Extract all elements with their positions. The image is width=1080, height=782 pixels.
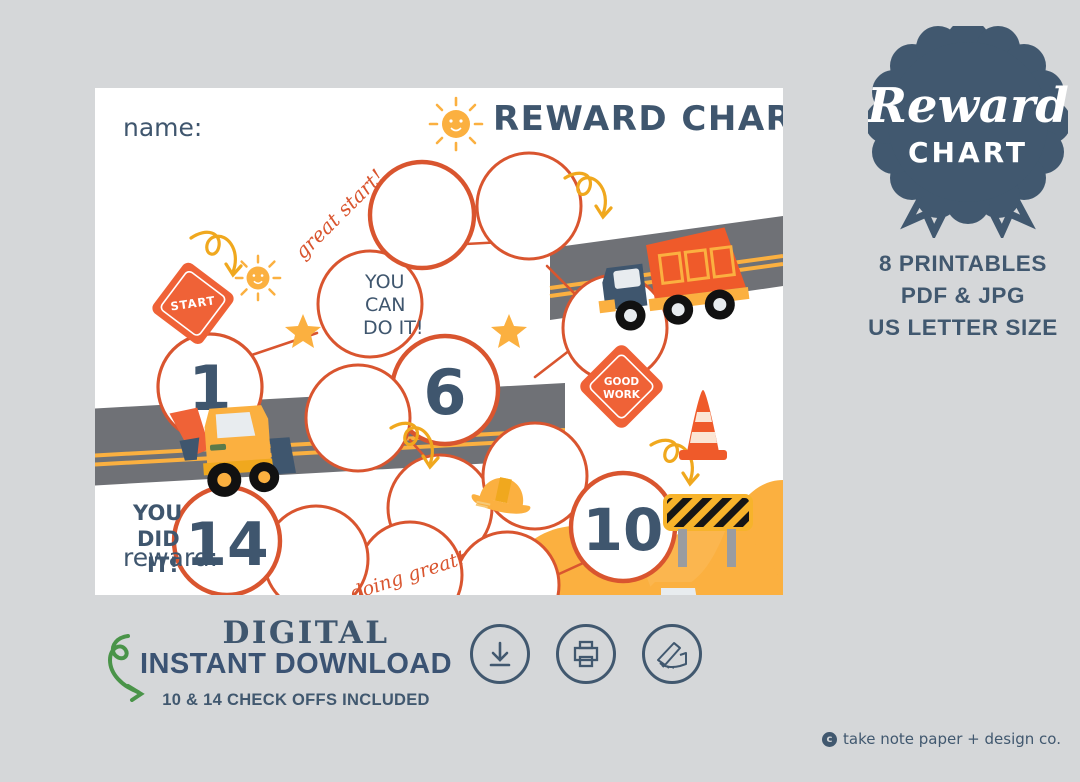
svg-text:6: 6 <box>423 356 466 429</box>
download-icon <box>484 638 516 670</box>
digital-heading: DIGITAL <box>186 615 426 651</box>
svg-text:IT!: IT! <box>147 553 179 577</box>
download-icon-button[interactable] <box>470 624 530 684</box>
copyright-icon: c <box>822 732 837 747</box>
green-curly-arrow-icon <box>108 630 162 702</box>
spec-line-size: US LETTER SIZE <box>845 312 1080 344</box>
svg-text:DID: DID <box>137 527 180 551</box>
shop-name: take note paper + design co. <box>843 730 1061 748</box>
sun-icon <box>430 98 482 150</box>
chart-title: REWARD CHART <box>493 99 783 139</box>
listing-canvas: 1 6 <box>0 0 1080 782</box>
reward-chart-badge: Reward CHART <box>868 26 1068 238</box>
product-specs: 8 PRINTABLES PDF & JPG US LETTER SIZE <box>845 248 1080 344</box>
svg-text:WORK: WORK <box>603 389 641 401</box>
svg-text:YOU: YOU <box>364 271 404 293</box>
svg-text:YOU: YOU <box>132 501 182 525</box>
reward-chart-artwork: 1 6 <box>95 88 783 595</box>
svg-text:GOOD: GOOD <box>604 376 639 388</box>
reward-chart-card: 1 6 <box>95 88 783 595</box>
badge-script-label: Reward <box>868 78 1068 134</box>
hand-writing-icon <box>654 637 690 671</box>
spec-line-printables: 8 PRINTABLES <box>845 248 1080 280</box>
instant-download-heading: INSTANT DOWNLOAD <box>126 648 466 681</box>
reward-step-circle-10[interactable]: 10 <box>571 473 675 581</box>
svg-text:CAN: CAN <box>365 294 405 316</box>
reward-step-circle-14[interactable]: 14 <box>174 487 280 595</box>
checkoffs-note: 10 & 14 CHECK OFFS INCLUDED <box>136 691 456 710</box>
svg-text:DO IT!: DO IT! <box>363 317 423 339</box>
feature-icon-row <box>470 624 702 684</box>
printer-icon-button[interactable] <box>556 624 616 684</box>
badge-block-label: CHART <box>908 136 1028 169</box>
svg-text:10: 10 <box>583 496 664 564</box>
reward-step-circle-4[interactable] <box>477 153 581 259</box>
spec-line-formats: PDF & JPG <box>845 280 1080 312</box>
chart-name-label: name: <box>123 113 202 142</box>
sun-icon <box>236 256 280 300</box>
reward-step-circle-7[interactable] <box>306 365 410 471</box>
printer-icon <box>570 638 602 670</box>
hand-writing-icon-button[interactable] <box>642 624 702 684</box>
reward-step-circle-3[interactable] <box>370 162 474 268</box>
shop-credit: c take note paper + design co. <box>822 730 1061 748</box>
